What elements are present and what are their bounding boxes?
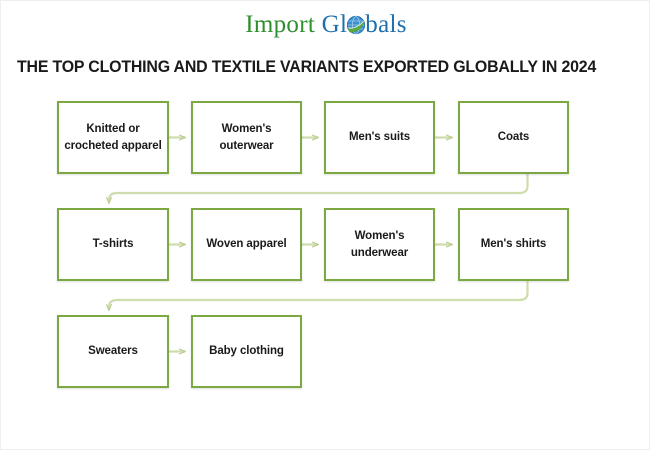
flow-diagram: Knitted or crocheted apparelWomen's oute… [1, 1, 650, 450]
flow-node[interactable]: Women's outerwear [191, 101, 302, 174]
flow-node[interactable]: Woven apparel [191, 208, 302, 281]
infographic-canvas: Import Gl bals THE TOP CLOTHING AND TEXT… [0, 0, 650, 450]
flow-node[interactable]: Men's suits [324, 101, 435, 174]
flow-node[interactable]: Coats [458, 101, 569, 174]
flow-node[interactable]: Sweaters [57, 315, 169, 388]
flow-node[interactable]: Women's underwear [324, 208, 435, 281]
flow-node[interactable]: T-shirts [57, 208, 169, 281]
flow-node[interactable]: Men's shirts [458, 208, 569, 281]
arrow-wrap-down-icon [109, 174, 528, 203]
flow-node[interactable]: Knitted or crocheted apparel [57, 101, 169, 174]
arrow-wrap-down-icon [109, 281, 528, 310]
flow-node[interactable]: Baby clothing [191, 315, 302, 388]
